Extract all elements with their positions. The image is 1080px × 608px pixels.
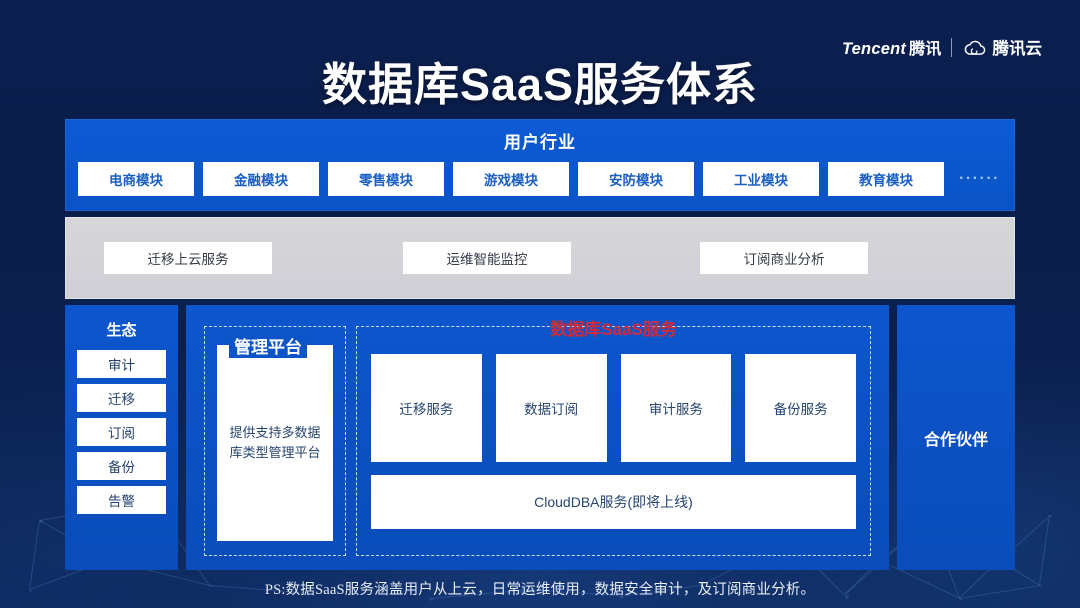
saas-card-data-subscription[interactable]: 数据订阅 — [496, 354, 607, 462]
industry-module-gaming[interactable]: 游戏模块 — [453, 162, 569, 196]
ecosystem-item-subscription[interactable]: 订阅 — [77, 418, 166, 446]
ecosystem-item-alert[interactable]: 告警 — [77, 486, 166, 514]
industry-module-finance[interactable]: 金融模块 — [203, 162, 319, 196]
ecosystem-list: 审计 迁移 订阅 备份 告警 — [65, 340, 178, 514]
management-platform-label: 管理平台 — [229, 333, 307, 358]
saas-card-audit[interactable]: 审计服务 — [621, 354, 732, 462]
service-band: 迁移上云服务 运维智能监控 订阅商业分析 — [65, 217, 1015, 299]
service-migration-to-cloud[interactable]: 迁移上云服务 — [104, 242, 272, 274]
management-platform-group: 管理平台 提供支持多数据库类型管理平台 — [204, 326, 346, 556]
partner-panel: 合作伙伴 — [897, 305, 1015, 570]
saas-card-migration[interactable]: 迁移服务 — [371, 354, 482, 462]
industry-module-education[interactable]: 教育模块 — [828, 162, 944, 196]
partner-label: 合作伙伴 — [924, 426, 988, 450]
industry-ellipsis: ······ — [953, 170, 1000, 188]
ecosystem-item-backup[interactable]: 备份 — [77, 452, 166, 480]
service-subscription-analytics[interactable]: 订阅商业分析 — [700, 242, 868, 274]
industry-module-row: 电商模块 金融模块 零售模块 游戏模块 安防模块 工业模块 教育模块 ·····… — [65, 153, 1015, 196]
service-intelligent-monitoring[interactable]: 运维智能监控 — [403, 242, 571, 274]
saas-group: 数据库SaaS服务 迁移服务 数据订阅 审计服务 备份服务 CloudDBA服务… — [356, 326, 871, 556]
core-panel: 管理平台 提供支持多数据库类型管理平台 数据库SaaS服务 迁移服务 数据订阅 … — [186, 305, 889, 570]
ecosystem-heading: 生态 — [65, 305, 178, 340]
industry-module-industrial[interactable]: 工业模块 — [703, 162, 819, 196]
saas-card-backup[interactable]: 备份服务 — [745, 354, 856, 462]
industry-panel: 用户行业 电商模块 金融模块 零售模块 游戏模块 安防模块 工业模块 教育模块 … — [65, 119, 1015, 211]
ecosystem-item-migration[interactable]: 迁移 — [77, 384, 166, 412]
page-title: 数据库SaaS服务体系 — [0, 48, 1080, 113]
footnote: PS:数据SaaS服务涵盖用户从上云，日常运维使用，数据安全审计，及订阅商业分析… — [0, 578, 1080, 599]
saas-group-label: 数据库SaaS服务 — [550, 315, 677, 340]
ecosystem-item-audit[interactable]: 审计 — [77, 350, 166, 378]
industry-module-retail[interactable]: 零售模块 — [328, 162, 444, 196]
saas-card-clouddba[interactable]: CloudDBA服务(即将上线) — [371, 475, 856, 529]
industry-heading: 用户行业 — [65, 119, 1015, 153]
industry-module-security[interactable]: 安防模块 — [578, 162, 694, 196]
management-platform-description[interactable]: 提供支持多数据库类型管理平台 — [217, 345, 333, 541]
slide-background: Tencent腾讯 腾讯云 数据库SaaS服务体系 用户行业 电商模块 金融模块… — [0, 0, 1080, 608]
saas-card-row: 迁移服务 数据订阅 审计服务 备份服务 — [371, 354, 856, 462]
industry-module-ecommerce[interactable]: 电商模块 — [78, 162, 194, 196]
ecosystem-panel: 生态 审计 迁移 订阅 备份 告警 — [65, 305, 178, 570]
